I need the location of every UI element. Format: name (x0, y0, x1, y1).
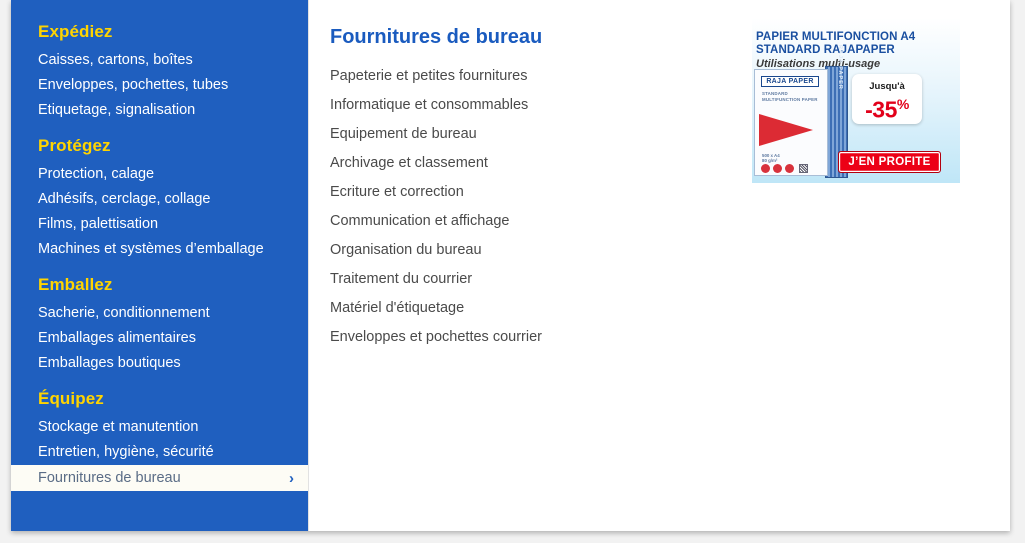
product-image-paper-ream: RAJA PAPER RAJA PAPER STANDARD MULTIFUNC… (754, 66, 848, 178)
sidebar-heading-expediez: Expédiez (11, 22, 308, 48)
promo-cta-button[interactable]: J’EN PROFITE (838, 151, 941, 173)
sidebar-item-machines-systemes-emballage[interactable]: Machines et systèmes d’emballage (11, 237, 308, 262)
certification-dot-icon (773, 164, 782, 173)
subcategory-panel: Fournitures de bureau Papeterie et petit… (309, 0, 1010, 531)
product-pack-front: RAJA PAPER STANDARD MULTIFUNCTION PAPER … (754, 69, 828, 176)
product-footnote-line1: 500 x A4 (762, 153, 780, 158)
sidebar-item-caisses-cartons-boites[interactable]: Caisses, cartons, boîtes (11, 48, 308, 73)
sidebar-item-etiquetage-signalisation[interactable]: Etiquetage, signalisation (11, 98, 308, 123)
sidebar-item-films-palettisation[interactable]: Films, palettisation (11, 212, 308, 237)
sidebar-heading-protegez: Protégez (11, 136, 308, 162)
discount-value: -35% (852, 92, 922, 122)
certification-dot-icon (761, 164, 770, 173)
content-link-enveloppes-pochettes-courrier[interactable]: Enveloppes et pochettes courrier (330, 323, 1010, 352)
product-footnote: 500 x A4 80 g/m² (762, 153, 780, 164)
sidebar-heading-emballez: Emballez (11, 275, 308, 301)
brand-arrow-icon (759, 114, 813, 146)
sidebar-item-enveloppes-pochettes-tubes[interactable]: Enveloppes, pochettes, tubes (11, 73, 308, 98)
sidebar-item-protection-calage[interactable]: Protection, calage (11, 162, 308, 187)
product-caption-line1: STANDARD (762, 91, 788, 96)
discount-number: -35 (865, 97, 897, 123)
content-link-materiel-etiquetage[interactable]: Matériel d'étiquetage (330, 294, 1010, 323)
sidebar-item-fournitures-de-bureau[interactable]: Fournitures de bureau › (11, 465, 308, 491)
certification-dot-icon (785, 164, 794, 173)
sidebar-group-protegez: Protégez Protection, calage Adhésifs, ce… (11, 136, 308, 262)
discount-prefix: Jusqu'à (852, 74, 922, 92)
category-sidebar: Expédiez Caisses, cartons, boîtes Envelo… (11, 0, 308, 531)
promo-title: PAPIER MULTIFONCTION A4 STANDARD RAJAPAP… (752, 18, 960, 56)
sidebar-item-entretien-hygiene-securite[interactable]: Entretien, hygiène, sécurité (11, 440, 308, 465)
promo-title-line1: PAPIER MULTIFONCTION A4 (756, 31, 915, 43)
product-spine-text: RAJA PAPER (837, 45, 843, 115)
content-link-communication-affichage[interactable]: Communication et affichage (330, 207, 1010, 236)
discount-badge: Jusqu'à -35% (852, 74, 922, 124)
product-caption: STANDARD MULTIFUNCTION PAPER (762, 91, 818, 102)
chevron-right-icon: › (289, 471, 294, 486)
sidebar-item-adhesifs-cerclage-collage[interactable]: Adhésifs, cerclage, collage (11, 187, 308, 212)
sidebar-group-emballez: Emballez Sacherie, conditionnement Embal… (11, 275, 308, 376)
sidebar-item-stockage-manutention[interactable]: Stockage et manutention (11, 415, 308, 440)
sidebar-group-expediez: Expédiez Caisses, cartons, boîtes Envelo… (11, 22, 308, 123)
product-brand-logo: RAJA PAPER (761, 76, 819, 87)
megamenu-panel: Expédiez Caisses, cartons, boîtes Envelo… (11, 0, 1010, 531)
product-certification-dots (761, 164, 794, 173)
sidebar-item-emballages-alimentaires[interactable]: Emballages alimentaires (11, 326, 308, 351)
content-link-traitement-du-courrier[interactable]: Traitement du courrier (330, 265, 1010, 294)
product-caption-line2: MULTIFUNCTION PAPER (762, 97, 818, 102)
sidebar-item-sacherie-conditionnement[interactable]: Sacherie, conditionnement (11, 301, 308, 326)
discount-unit: % (897, 96, 909, 112)
content-link-organisation-du-bureau[interactable]: Organisation du bureau (330, 236, 1010, 265)
promo-title-line2: STANDARD RAJAPAPER (756, 44, 895, 56)
certification-label-icon (799, 164, 808, 173)
product-footnote-line2: 80 g/m² (762, 158, 777, 163)
sidebar-item-label: Fournitures de bureau (38, 465, 181, 491)
sidebar-group-equipez: Équipez Stockage et manutention Entretie… (11, 389, 308, 491)
promo-banner[interactable]: PAPIER MULTIFONCTION A4 STANDARD RAJAPAP… (752, 18, 960, 183)
sidebar-item-emballages-boutiques[interactable]: Emballages boutiques (11, 351, 308, 376)
sidebar-heading-equipez: Équipez (11, 389, 308, 415)
